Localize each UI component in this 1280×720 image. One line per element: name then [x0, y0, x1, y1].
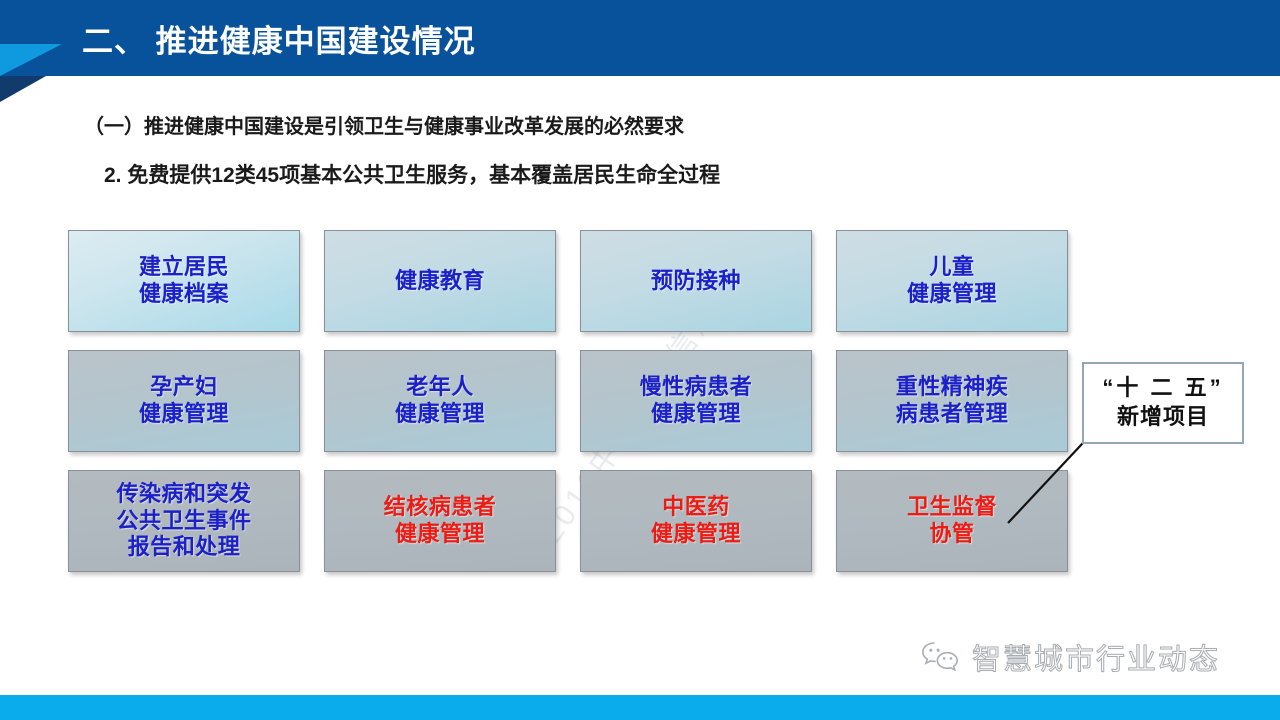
- service-box-label: 孕产妇 健康管理: [139, 374, 229, 428]
- subtitle-level-1: （一）推进健康中国建设是引领卫生与健康事业改革发展的必然要求: [84, 110, 684, 139]
- service-label-line: 健康教育: [395, 268, 485, 295]
- service-box[interactable]: 传染病和突发 公共卫生事件 报告和处理: [68, 470, 300, 572]
- service-box[interactable]: 中医药 健康管理: [580, 470, 812, 572]
- service-label-line: 公共卫生事件: [116, 508, 251, 535]
- brand-watermark: 智慧城市行业动态: [920, 636, 1220, 678]
- service-box-label: 卫生监督 协管: [907, 494, 997, 548]
- service-label-line: 建立居民: [139, 254, 229, 281]
- service-box-label: 健康教育: [395, 268, 485, 295]
- service-label-line: 健康档案: [139, 281, 229, 308]
- service-grid: 建立居民 健康档案 健康教育 预防接种 儿童 健康管理 孕产妇 健康管理: [68, 230, 1070, 572]
- slide-canvas: 二、 推进健康中国建设情况 （一）推进健康中国建设是引领卫生与健康事业改革发展的…: [0, 0, 1280, 720]
- bottom-accent-bar: [0, 695, 1280, 720]
- service-label-line: 预防接种: [651, 268, 741, 295]
- service-label-line: 病患者管理: [896, 401, 1009, 428]
- service-label-line: 儿童: [907, 254, 997, 281]
- service-label-line: 健康管理: [907, 281, 997, 308]
- service-box-label: 重性精神疾 病患者管理: [896, 374, 1009, 428]
- service-box[interactable]: 健康教育: [324, 230, 556, 332]
- service-box[interactable]: 孕产妇 健康管理: [68, 350, 300, 452]
- service-label-line: 健康管理: [384, 521, 497, 548]
- service-box[interactable]: 预防接种: [580, 230, 812, 332]
- service-box[interactable]: 卫生监督 协管: [836, 470, 1068, 572]
- service-label-line: 孕产妇: [139, 374, 229, 401]
- service-label-line: 健康管理: [640, 401, 753, 428]
- service-label-line: 卫生监督: [907, 494, 997, 521]
- page-title: 二、 推进健康中国建设情况: [82, 16, 476, 61]
- service-box[interactable]: 重性精神疾 病患者管理: [836, 350, 1068, 452]
- service-label-line: 中医药: [651, 494, 741, 521]
- wechat-icon: [920, 640, 960, 674]
- service-box-label: 传染病和突发 公共卫生事件 报告和处理: [116, 481, 251, 561]
- service-box-label: 儿童 健康管理: [907, 254, 997, 308]
- service-box[interactable]: 老年人 健康管理: [324, 350, 556, 452]
- callout-box: “十 二 五” 新增项目: [1082, 362, 1244, 444]
- service-box-label: 老年人 健康管理: [395, 374, 485, 428]
- service-box[interactable]: 建立居民 健康档案: [68, 230, 300, 332]
- service-label-line: 结核病患者: [384, 494, 497, 521]
- service-box[interactable]: 结核病患者 健康管理: [324, 470, 556, 572]
- service-label-line: 健康管理: [651, 521, 741, 548]
- callout-line-2: 新增项目: [1117, 403, 1209, 432]
- service-box-label: 慢性病患者 健康管理: [640, 374, 753, 428]
- service-label-line: 健康管理: [139, 401, 229, 428]
- service-label-line: 传染病和突发: [116, 481, 251, 508]
- service-label-line: 报告和处理: [116, 534, 251, 561]
- service-box[interactable]: 慢性病患者 健康管理: [580, 350, 812, 452]
- service-label-line: 慢性病患者: [640, 374, 753, 401]
- service-label-line: 老年人: [395, 374, 485, 401]
- header-corner-wedge-icon: [0, 76, 46, 102]
- service-box-label: 结核病患者 健康管理: [384, 494, 497, 548]
- callout-line-1: “十 二 五”: [1102, 374, 1223, 403]
- service-label-line: 重性精神疾: [896, 374, 1009, 401]
- service-label-line: 健康管理: [395, 401, 485, 428]
- service-box-label: 中医药 健康管理: [651, 494, 741, 548]
- brand-name: 智慧城市行业动态: [972, 636, 1220, 678]
- service-label-line: 协管: [907, 521, 997, 548]
- service-box-label: 预防接种: [651, 268, 741, 295]
- service-box[interactable]: 儿童 健康管理: [836, 230, 1068, 332]
- service-box-label: 建立居民 健康档案: [139, 254, 229, 308]
- header-accent-triangle-icon: [0, 44, 62, 76]
- subtitle-level-2: 2. 免费提供12类45项基本公共卫生服务，基本覆盖居民生命全过程: [104, 159, 720, 189]
